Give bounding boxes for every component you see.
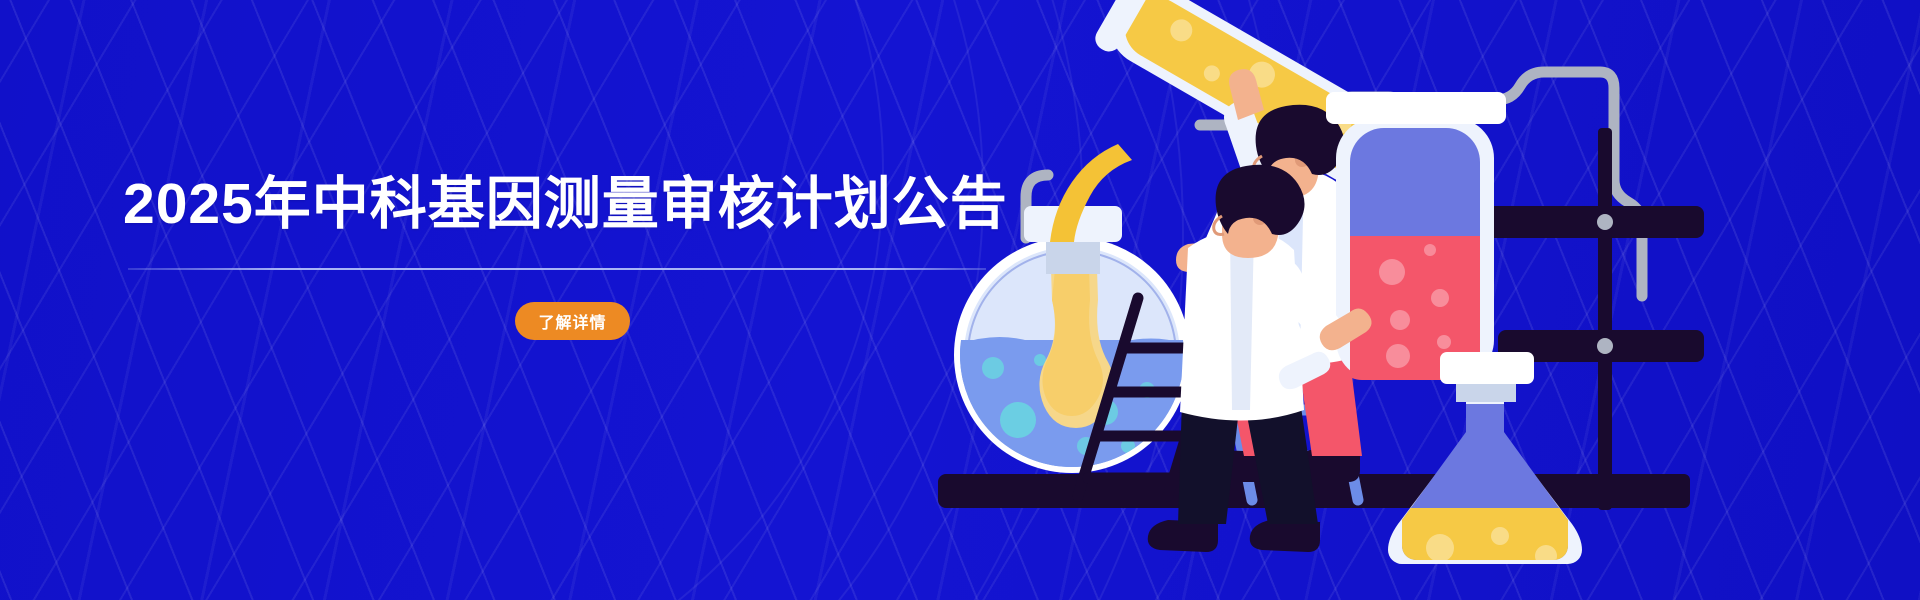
- mounted-test-tube: [1326, 92, 1506, 384]
- promo-banner: 2025年中科基因测量审核计划公告 了解详情: [0, 0, 1920, 600]
- banner-title: 2025年中科基因测量审核计划公告: [123, 172, 1008, 238]
- laboratory-illustration: [900, 0, 1920, 600]
- learn-more-button[interactable]: 了解详情: [515, 302, 630, 340]
- title-divider: [128, 268, 986, 270]
- banner-content: 2025年中科基因测量审核计划公告 了解详情: [0, 0, 1050, 600]
